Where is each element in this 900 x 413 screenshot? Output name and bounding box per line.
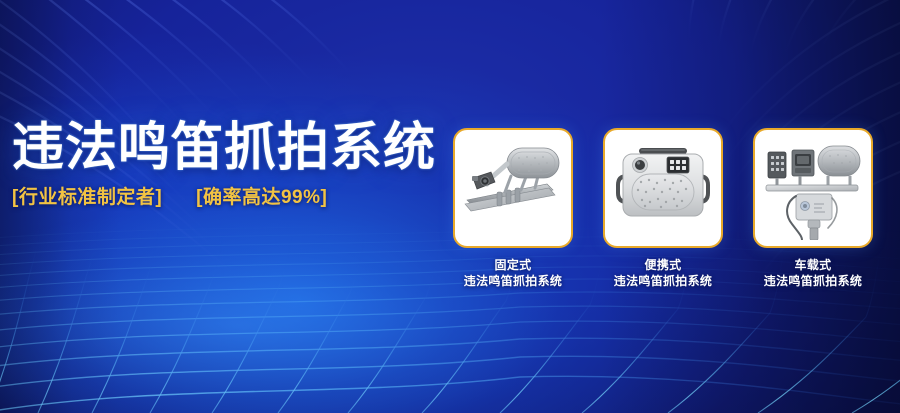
product-card-vehicle-type: 车载式 bbox=[764, 257, 862, 273]
product-card-vehicle[interactable]: 车载式 违法鸣笛抓拍系统 bbox=[755, 128, 871, 289]
product-card-portable[interactable]: 便携式 违法鸣笛抓拍系统 bbox=[605, 128, 721, 289]
product-card-fixed[interactable]: 固定式 违法鸣笛抓拍系统 bbox=[455, 128, 571, 289]
fixed-horn-capture-device-icon bbox=[461, 138, 565, 238]
headline-block: 违法鸣笛抓拍系统 [行业标准制定者] [确率高达99%] bbox=[12, 118, 436, 210]
product-card-fixed-system: 违法鸣笛抓拍系统 bbox=[464, 273, 562, 289]
product-card-vehicle-system: 违法鸣笛抓拍系统 bbox=[764, 273, 862, 289]
headline-tag-industry-standard: [行业标准制定者] bbox=[12, 186, 162, 210]
portable-horn-capture-device-icon bbox=[611, 140, 715, 236]
product-card-fixed-frame[interactable] bbox=[453, 128, 573, 248]
product-card-portable-system: 违法鸣笛抓拍系统 bbox=[614, 273, 712, 289]
product-card-list: 固定式 违法鸣笛抓拍系统 bbox=[455, 128, 871, 289]
product-card-fixed-type: 固定式 bbox=[464, 257, 562, 273]
product-card-fixed-caption: 固定式 违法鸣笛抓拍系统 bbox=[464, 257, 562, 289]
banner-hero: 违法鸣笛抓拍系统 [行业标准制定者] [确率高达99%] bbox=[0, 0, 900, 413]
headline-tag-list: [行业标准制定者] [确率高达99%] bbox=[12, 186, 436, 210]
product-card-portable-type: 便携式 bbox=[614, 257, 712, 273]
page-title: 违法鸣笛抓拍系统 bbox=[12, 118, 436, 178]
headline-tag-accuracy: [确率高达99%] bbox=[196, 186, 327, 210]
vehicle-mounted-horn-capture-device-icon bbox=[762, 136, 864, 240]
product-card-portable-caption: 便携式 违法鸣笛抓拍系统 bbox=[614, 257, 712, 289]
product-card-vehicle-caption: 车载式 违法鸣笛抓拍系统 bbox=[764, 257, 862, 289]
product-card-vehicle-frame[interactable] bbox=[753, 128, 873, 248]
product-card-portable-frame[interactable] bbox=[603, 128, 723, 248]
